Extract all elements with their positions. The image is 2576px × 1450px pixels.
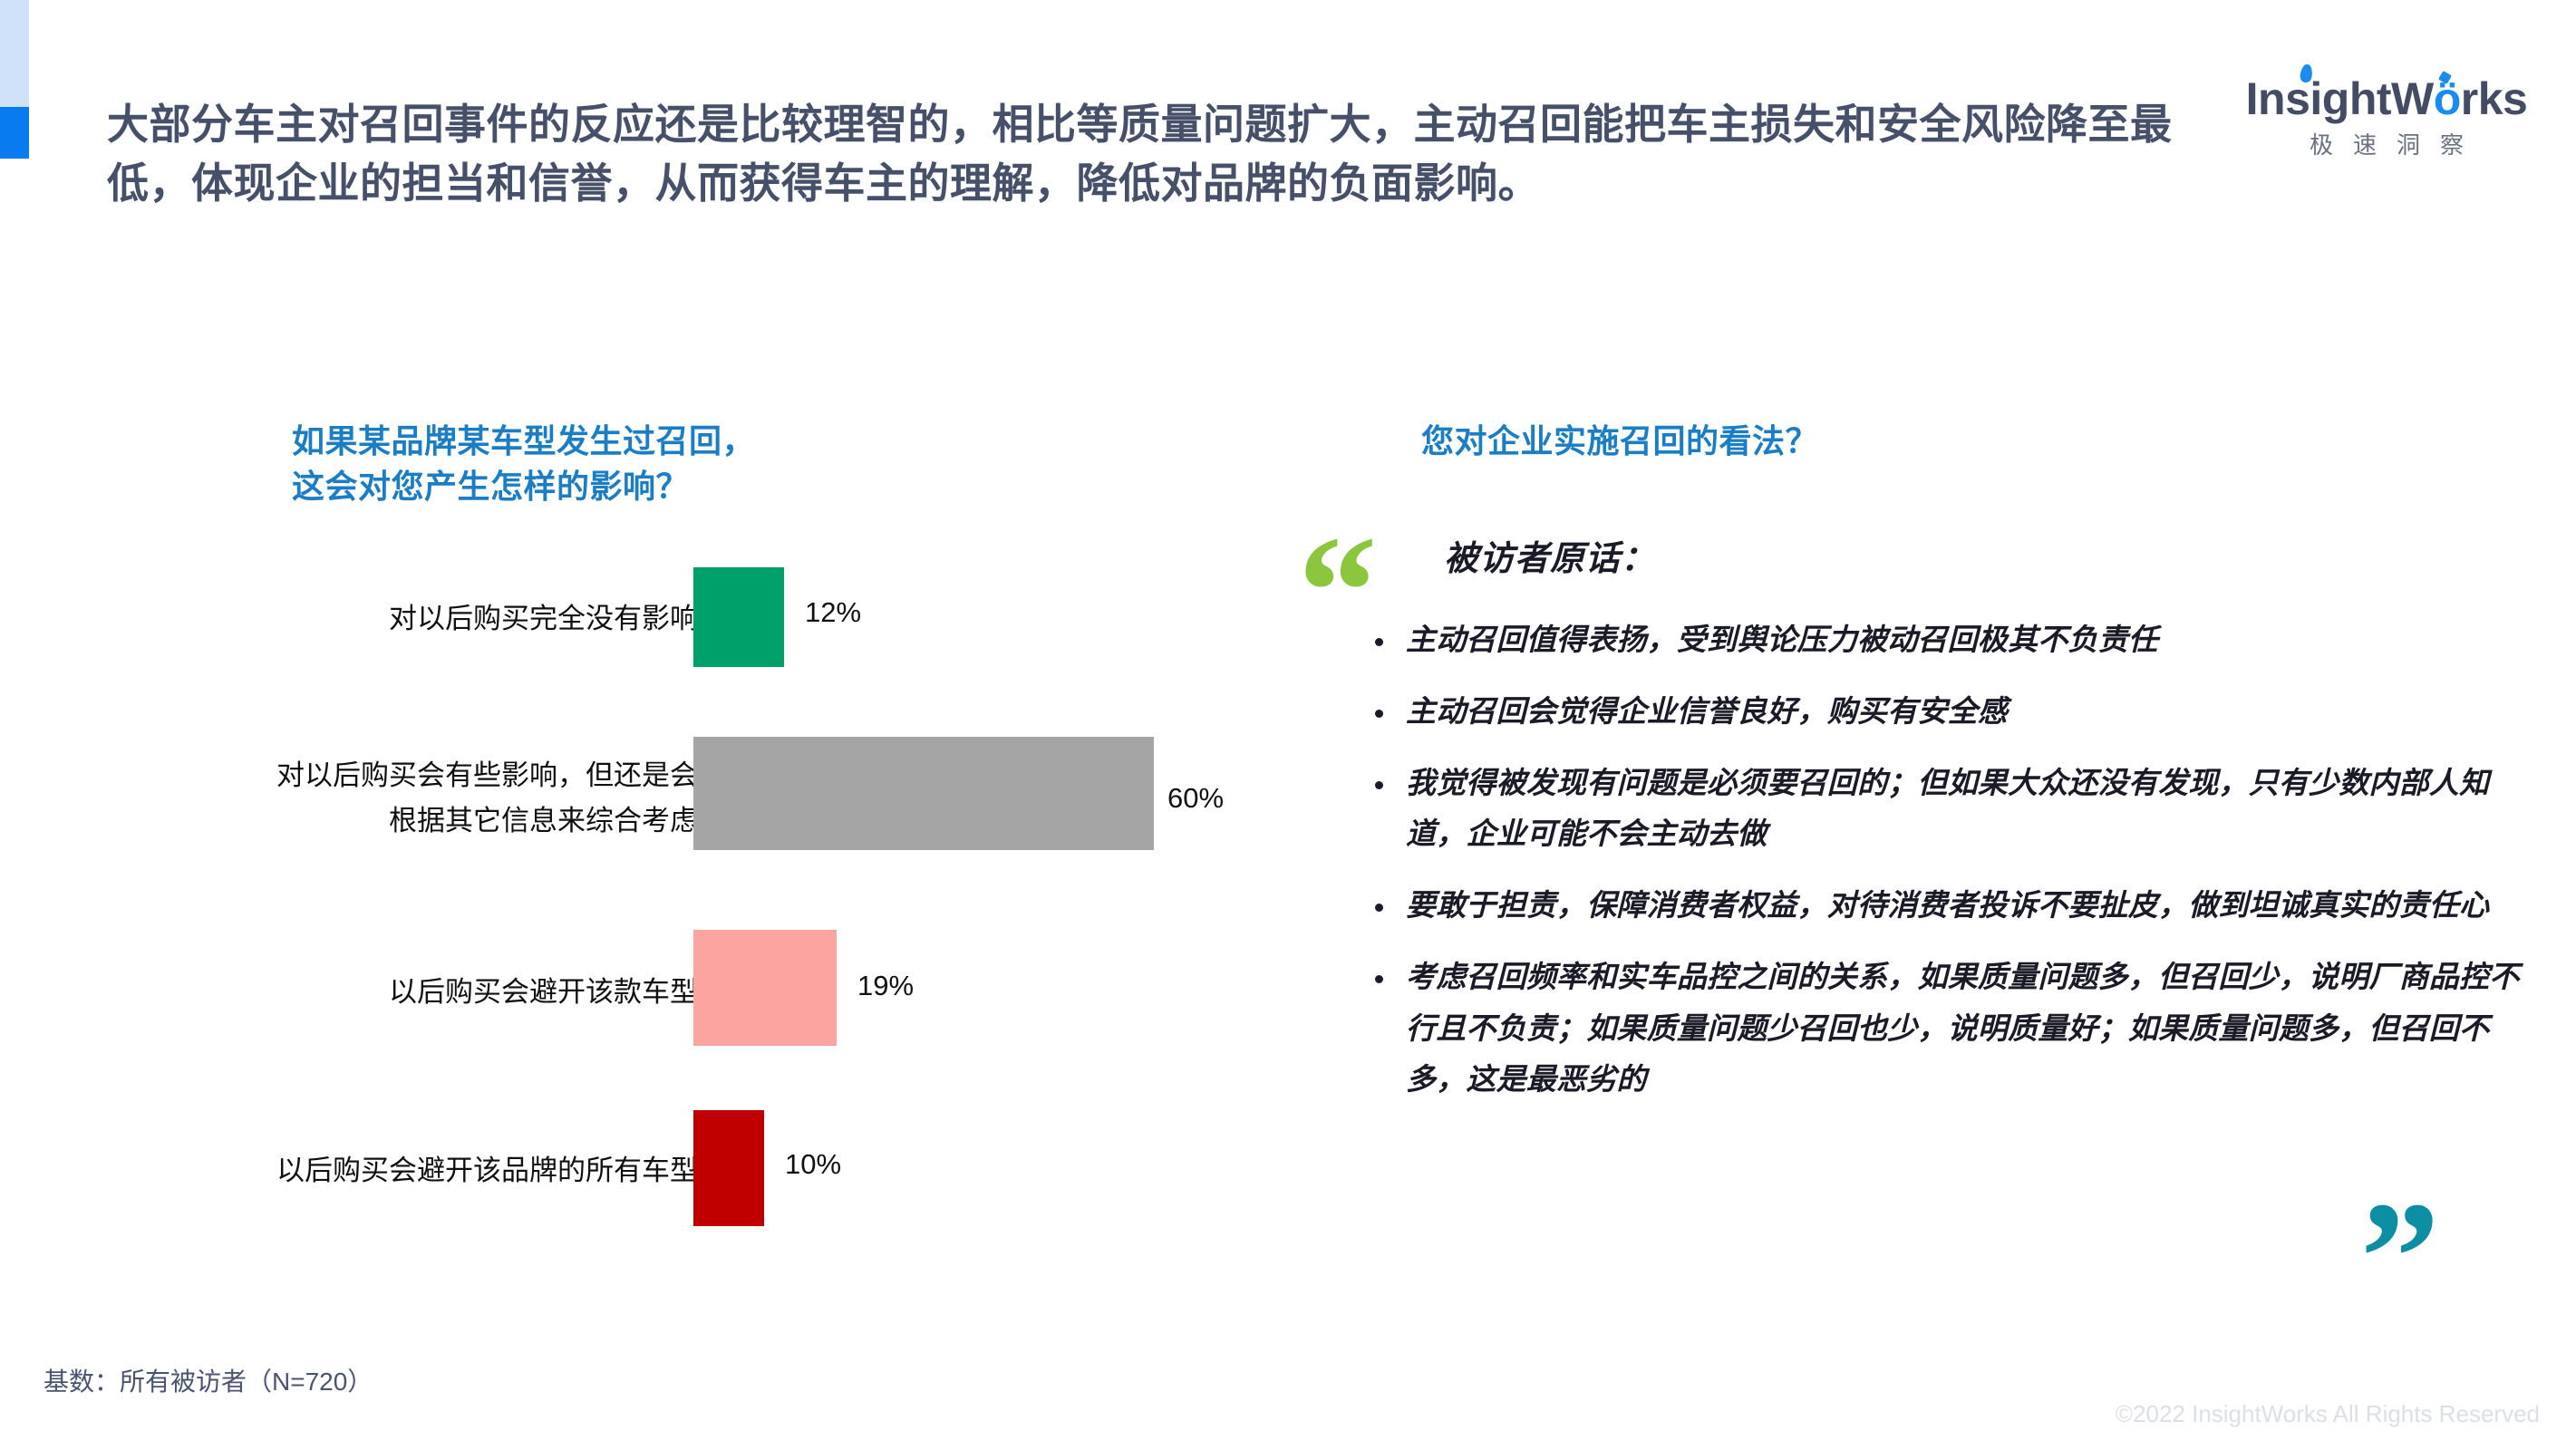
bar-category-label: 以后购买会避开该款车型 xyxy=(109,970,698,1015)
quotes-bullet-list: 主动召回值得表扬，受到舆论压力被动召回极其不负责任 主动召回会觉得企业信誉良好，… xyxy=(1371,614,2541,1126)
list-item: 主动召回值得表扬，受到舆论压力被动召回极其不负责任 xyxy=(1371,614,2541,666)
list-item-text: 主动召回值得表扬，受到舆论压力被动召回极其不负责任 xyxy=(1406,623,2158,656)
bar-value-label: 60% xyxy=(1167,782,1224,815)
bar-rect xyxy=(693,1110,764,1226)
list-item-text: 要敢于担责，保障消费者权益，对待消费者投诉不要扯皮，做到坦诚真实的责任心 xyxy=(1406,888,2489,922)
left-edge-accent-bright xyxy=(0,107,29,159)
base-note: 基数：所有被访者（N=720） xyxy=(44,1362,373,1398)
bar-rect xyxy=(693,930,837,1046)
bar-value-label: 12% xyxy=(805,596,861,629)
quotes-panel-title: 您对企业实施召回的看法？ xyxy=(1421,419,1818,464)
list-item-text: 我觉得被发现有问题是必须要召回的；但如果大众还没有发现，只有少数内部人知道，企业… xyxy=(1406,766,2489,851)
bar-rect xyxy=(693,737,1154,850)
brand-logo: InsightWörks 极速洞察 xyxy=(2237,76,2536,160)
bar-category-label: 对以后购买会有些影响，但还是会 根据其它信息来综合考虑 xyxy=(109,753,698,844)
left-edge-accent-light xyxy=(0,0,29,107)
list-item-text: 主动召回会觉得企业信誉良好，购买有安全感 xyxy=(1406,694,2008,728)
bullet-dot-icon xyxy=(1375,710,1383,718)
bar-value-label: 19% xyxy=(857,970,914,1002)
list-item: 我觉得被发现有问题是必须要召回的；但如果大众还没有发现，只有少数内部人知道，企业… xyxy=(1371,758,2541,861)
bullet-dot-icon xyxy=(1375,638,1383,646)
brand-logo-text-part2: rks xyxy=(2461,73,2528,124)
bullet-dot-icon xyxy=(1375,904,1383,912)
list-item: 主动召回会觉得企业信誉良好，购买有安全感 xyxy=(1371,686,2541,738)
list-item-text: 考虑召回频率和实车品控之间的关系，如果质量问题多，但召回少，说明厂商品控不行且不… xyxy=(1406,960,2519,1097)
list-item: 要敢于担责，保障消费者权益，对待消费者投诉不要扯皮，做到坦诚真实的责任心 xyxy=(1371,880,2541,932)
bar-category-label: 以后购买会避开该品牌的所有车型 xyxy=(109,1148,698,1194)
bullet-dot-icon xyxy=(1375,975,1383,983)
open-quote-icon: “ xyxy=(1298,512,1372,671)
list-item: 考虑召回频率和实车品控之间的关系，如果质量问题多，但召回少，说明厂商品控不行且不… xyxy=(1371,952,2541,1106)
slide-canvas: InsightWörks 极速洞察 大部分车主对召回事件的反应还是比较理智的，相… xyxy=(0,0,2576,1450)
bar-rect xyxy=(693,567,784,667)
brand-logo-wordmark: InsightWörks xyxy=(2246,76,2528,121)
quotes-subtitle: 被访者原话： xyxy=(1444,530,1656,580)
bar-category-label: 对以后购买完全没有影响 xyxy=(109,596,698,642)
bar-value-label: 10% xyxy=(785,1148,841,1181)
bar-chart: 对以后购买完全没有影响 12% 对以后购买会有些影响，但还是会 根据其它信息来综… xyxy=(109,580,1251,1269)
page-headline: 大部分车主对召回事件的反应还是比较理智的，相比等质量问题扩大，主动召回能把车主损… xyxy=(107,95,2219,214)
close-quote-icon: ” xyxy=(2360,1178,2435,1337)
brand-logo-subtitle: 极速洞察 xyxy=(2237,127,2536,160)
brand-logo-text-part1: InsightW xyxy=(2246,73,2434,124)
chart-panel-title: 如果某品牌某车型发生过召回， 这会对您产生怎样的影响？ xyxy=(292,419,755,508)
bullet-dot-icon xyxy=(1375,781,1383,789)
copyright-notice: ©2022 InsightWorks All Rights Reserved xyxy=(2116,1400,2540,1428)
